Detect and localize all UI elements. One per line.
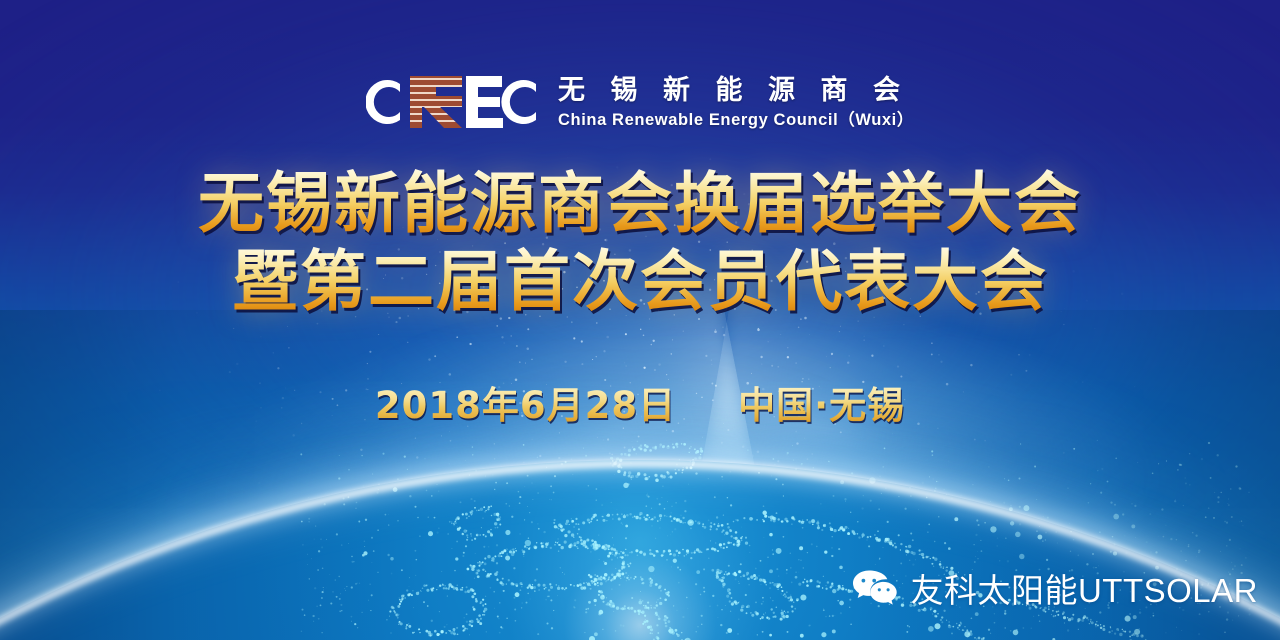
event-location: 中国·无锡 — [738, 375, 905, 429]
logo-letter-c2 — [501, 80, 536, 124]
crec-logo-mark — [366, 74, 538, 130]
event-date: 2018年6月28日 — [375, 375, 676, 429]
event-meta-row: 2018年6月28日 中国·无锡 — [0, 375, 1280, 429]
crec-logo-block: 无 锡 新 能 源 商 会 China Renewable Energy Cou… — [0, 74, 1280, 130]
conference-banner: 无 锡 新 能 源 商 会 China Renewable Energy Cou… — [0, 0, 1280, 640]
headline-block: 无锡新能源商会换届选举大会 暨第二届首次会员代表大会 — [0, 168, 1280, 318]
logo-text-block: 无 锡 新 能 源 商 会 China Renewable Energy Cou… — [558, 74, 914, 130]
headline-line-2: 暨第二届首次会员代表大会 — [0, 246, 1280, 318]
org-name-cn: 无 锡 新 能 源 商 会 — [558, 76, 914, 106]
logo-letter-c1 — [366, 80, 400, 124]
logo-letter-e — [466, 76, 503, 128]
watermark-label: 友科太阳能UTTSOLAR — [910, 564, 1258, 612]
headline-line-1: 无锡新能源商会换届选举大会 — [0, 168, 1280, 240]
wechat-icon — [852, 569, 898, 607]
logo-letter-r-striped — [406, 74, 466, 130]
wechat-watermark: 友科太阳能UTTSOLAR — [852, 564, 1258, 612]
org-name-en: China Renewable Energy Council（Wuxi） — [558, 111, 914, 131]
